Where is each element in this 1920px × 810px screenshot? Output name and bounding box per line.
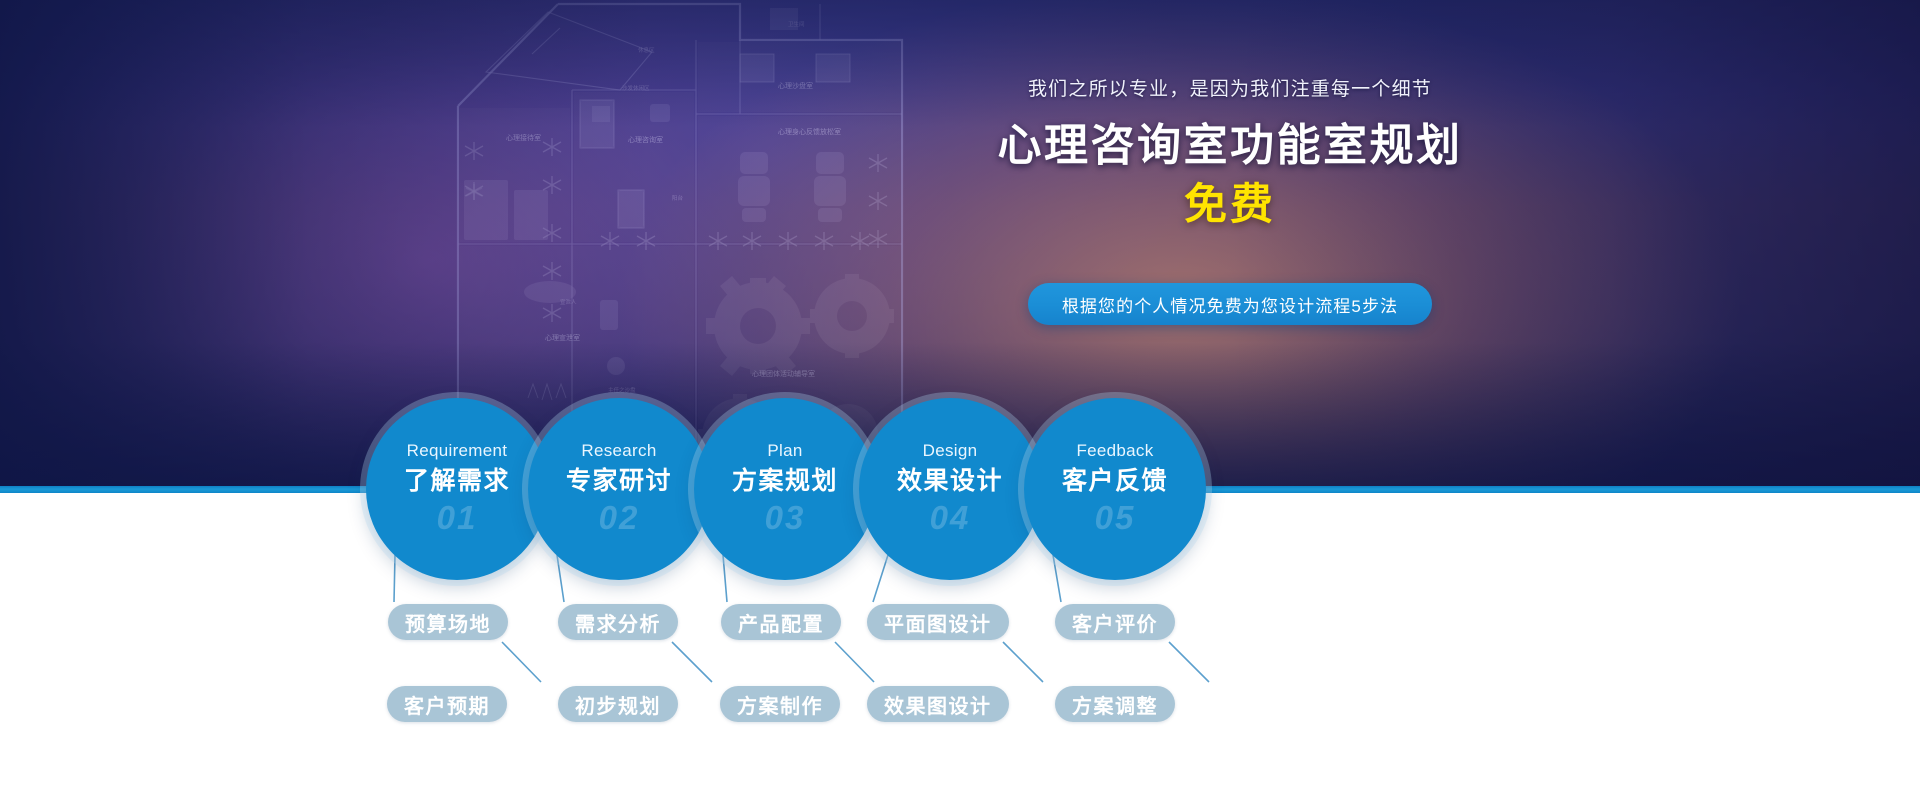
- step-number: 02: [599, 499, 640, 537]
- step-pill-bottom[interactable]: 方案调整: [1055, 686, 1175, 722]
- step-cn-label: 效果设计: [897, 465, 1003, 497]
- step-circle-01[interactable]: Requirement了解需求01: [366, 398, 548, 580]
- step-en-label: Requirement: [407, 440, 508, 462]
- step-pill-bottom[interactable]: 效果图设计: [867, 686, 1009, 722]
- process-steps: Requirement了解需求01预算场地客户预期Research专家研讨02需…: [0, 0, 1920, 810]
- step-en-label: Plan: [767, 440, 802, 462]
- step-circle-05[interactable]: Feedback客户反馈05: [1024, 398, 1206, 580]
- step-circle-04[interactable]: Design效果设计04: [859, 398, 1041, 580]
- process-step: Design效果设计04: [859, 398, 1041, 580]
- step-circle-03[interactable]: Plan方案规划03: [694, 398, 876, 580]
- step-pill-bottom[interactable]: 方案制作: [720, 686, 840, 722]
- step-number: 03: [765, 499, 806, 537]
- step-en-label: Research: [581, 440, 656, 462]
- step-pill-top[interactable]: 预算场地: [388, 604, 508, 640]
- process-step: Requirement了解需求01: [366, 398, 548, 580]
- step-pill-top[interactable]: 产品配置: [721, 604, 841, 640]
- step-pill-top[interactable]: 平面图设计: [867, 604, 1009, 640]
- step-pill-bottom[interactable]: 客户预期: [387, 686, 507, 722]
- step-cn-label: 专家研讨: [566, 465, 672, 497]
- step-number: 04: [930, 499, 971, 537]
- process-step: Plan方案规划03: [694, 398, 876, 580]
- step-pill-top[interactable]: 需求分析: [558, 604, 678, 640]
- step-number: 01: [437, 499, 478, 537]
- step-pill-top[interactable]: 客户评价: [1055, 604, 1175, 640]
- step-en-label: Design: [923, 440, 978, 462]
- step-en-label: Feedback: [1076, 440, 1153, 462]
- process-step: Feedback客户反馈05: [1024, 398, 1206, 580]
- process-step: Research专家研讨02: [528, 398, 710, 580]
- step-pill-bottom[interactable]: 初步规划: [558, 686, 678, 722]
- step-circle-02[interactable]: Research专家研讨02: [528, 398, 710, 580]
- step-cn-label: 了解需求: [404, 465, 510, 497]
- step-cn-label: 方案规划: [732, 465, 838, 497]
- step-cn-label: 客户反馈: [1062, 465, 1168, 497]
- step-number: 05: [1095, 499, 1136, 537]
- page-stage: 心理接待室心理咨询室心理沙盘室心理身心反馈放松室心理宣泄室心理团体活动辅导室休息…: [0, 0, 1920, 810]
